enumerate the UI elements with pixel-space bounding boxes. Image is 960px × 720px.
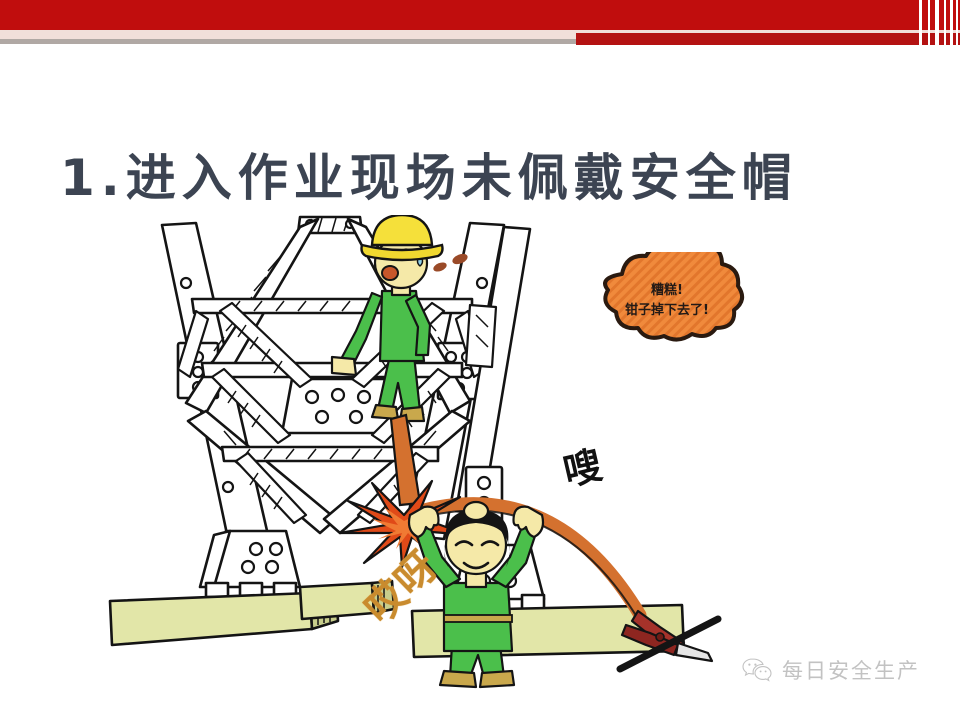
banner-stripe-accents [914,0,960,48]
watermark: 每日安全生产 [742,655,920,685]
banner-secondary-bar [576,33,960,45]
top-banner [0,0,960,56]
left-foundation [110,531,394,645]
page-title: 1.进入作业现场未佩戴安全帽 [60,138,798,210]
watermark-text: 每日安全生产 [782,655,920,685]
wechat-icon [742,657,772,683]
safety-illustration: .st { fill:#FFFFFF; stroke:#141414; stro… [0,215,960,695]
slide-root: 1.进入作业现场未佩戴安全帽 .st { fill:#FFFFFF; strok… [0,0,960,720]
speech-bubble: 糟糕! 钳子掉下去了! [588,252,746,350]
banner-white-band [0,44,960,56]
banner-primary-bar [0,0,960,30]
